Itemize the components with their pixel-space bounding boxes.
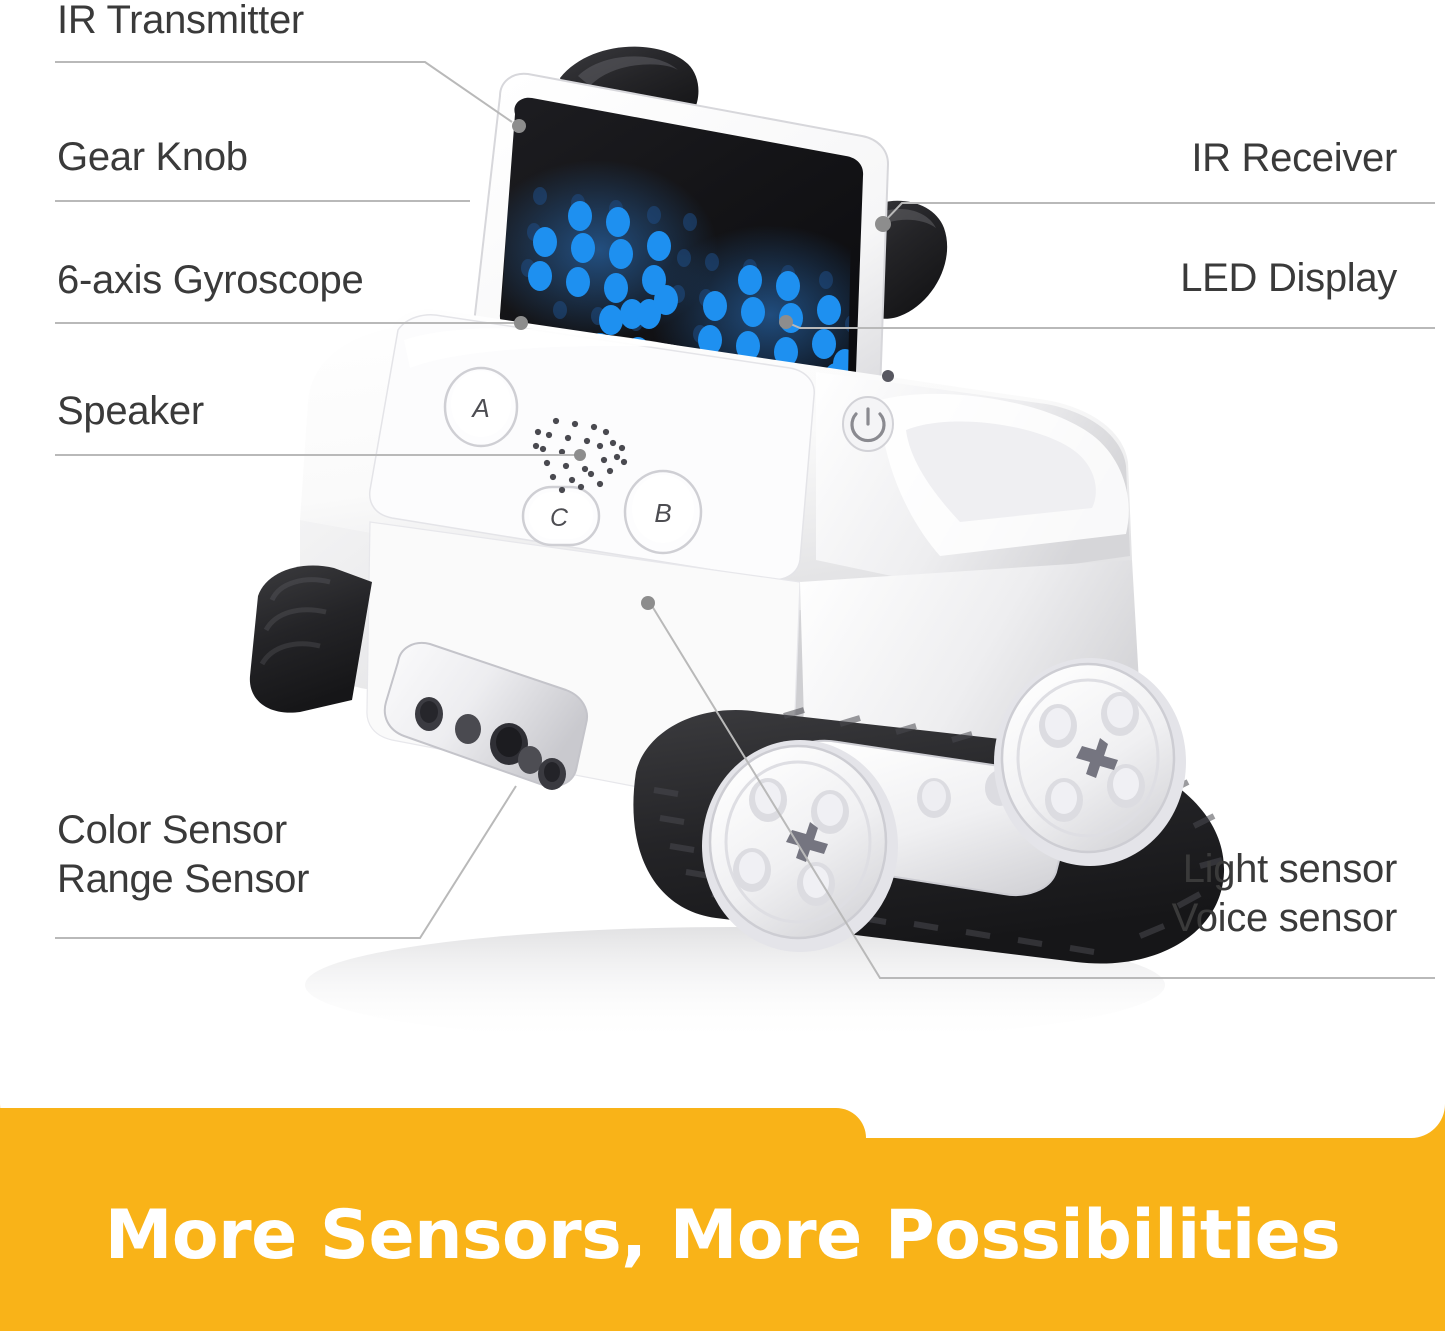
button-c-label: C xyxy=(550,504,569,532)
label-ir-transmitter: IR Transmitter xyxy=(57,0,304,45)
label-led-display: LED Display xyxy=(1180,254,1397,303)
infographic-page: A C B xyxy=(0,0,1445,1331)
label-light-voice-sensor: Light sensor Voice sensor xyxy=(1172,845,1397,943)
button-c[interactable]: C xyxy=(523,487,599,545)
button-a-label: A xyxy=(470,393,489,423)
button-b[interactable]: B xyxy=(625,471,701,553)
label-gyroscope: 6-axis Gyroscope xyxy=(57,256,363,305)
status-led xyxy=(882,370,894,382)
label-color-range-sensor: Color Sensor Range Sensor xyxy=(57,806,309,904)
left-track-assembly xyxy=(250,566,372,713)
rear-wheel-hub xyxy=(994,658,1186,866)
label-ir-receiver: IR Receiver xyxy=(1191,134,1397,183)
front-wheel-hub xyxy=(702,740,898,952)
banner-headline: More Sensors, More Possibilities xyxy=(0,1196,1445,1275)
power-button[interactable] xyxy=(843,397,893,451)
button-b-label: B xyxy=(654,498,671,528)
label-speaker: Speaker xyxy=(57,387,204,436)
button-a[interactable]: A xyxy=(445,368,517,446)
light-voice-sensor-pinhole xyxy=(642,597,655,610)
label-gear-knob: Gear Knob xyxy=(57,133,248,182)
